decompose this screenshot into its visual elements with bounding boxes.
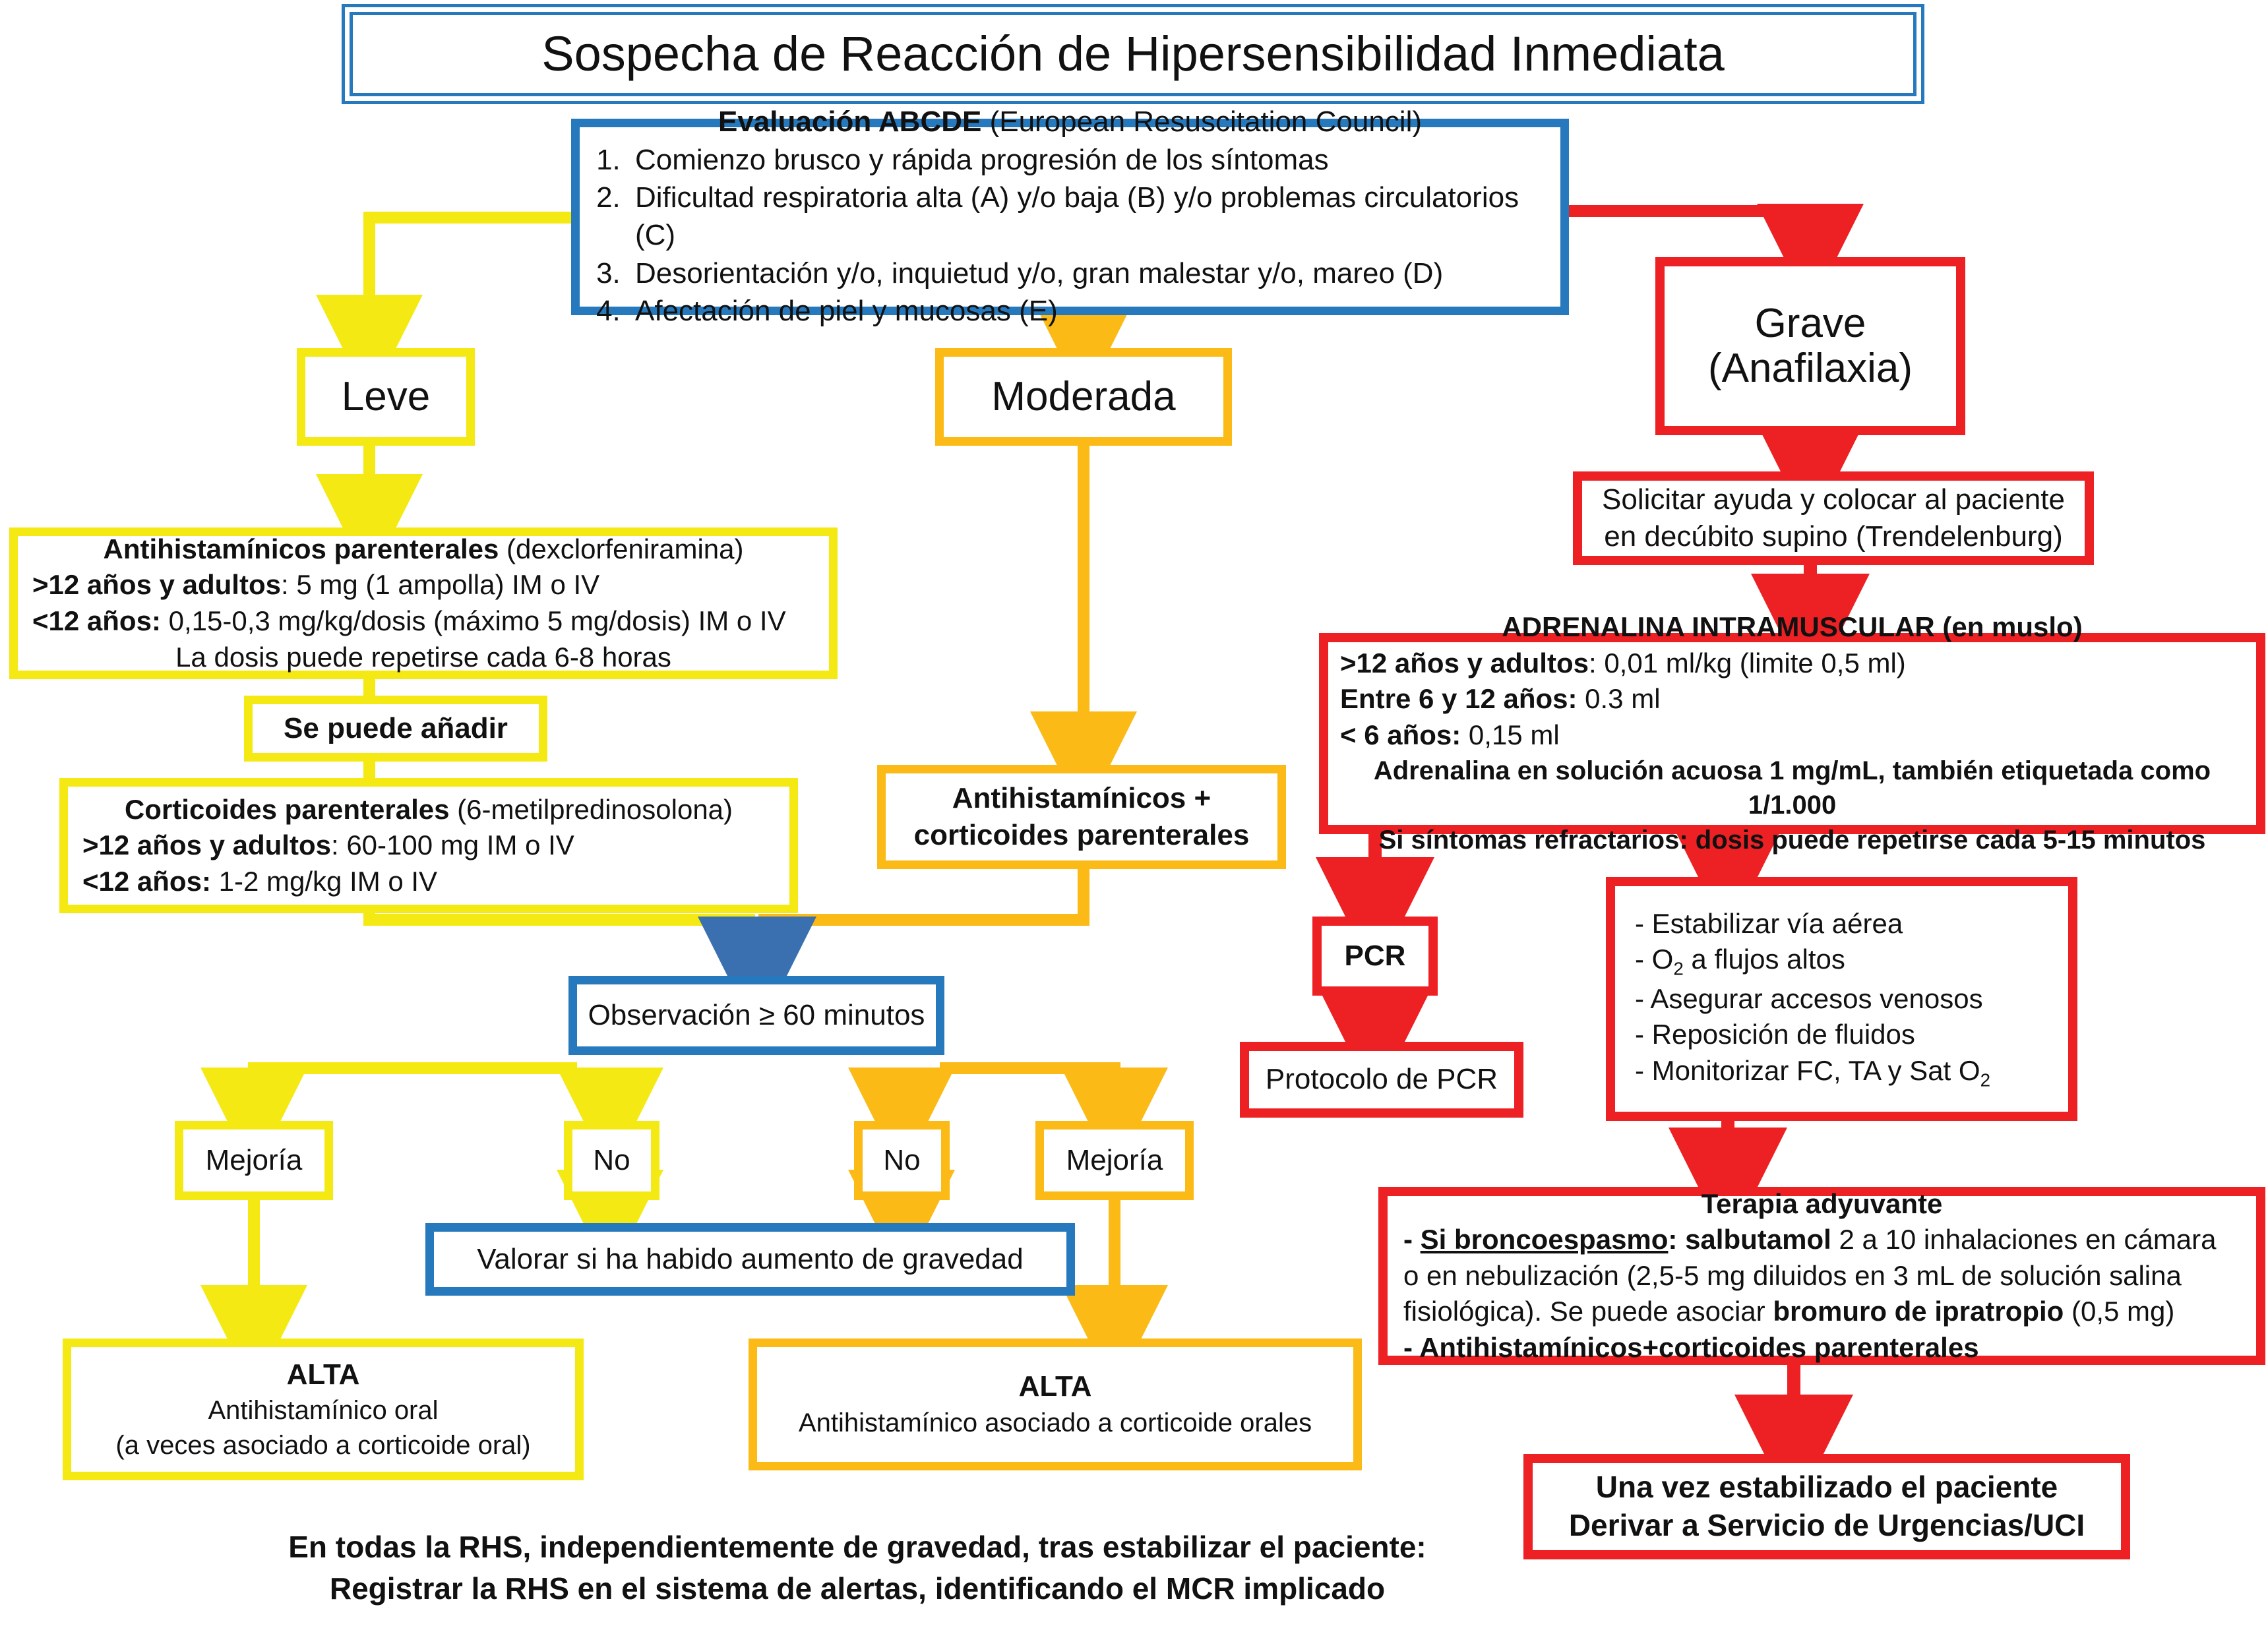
severity-grave-line1: Grave	[1665, 301, 1956, 346]
antihistamines-line4: La dosis puede repetirse cada 6-8 horas	[32, 640, 814, 676]
antihistamines-l2-rest: : 5 mg (1 ampolla) IM o IV	[281, 569, 599, 600]
observation-label: Observación ≥ 60 minutos	[577, 997, 936, 1034]
page-title: Sospecha de Reacción de Hipersensibilida…	[541, 28, 1725, 80]
stabilize-measures-box: - Estabilizar vía aérea - O2 a flujos al…	[1606, 877, 2077, 1121]
antihistamines-l3-bold: <12 años:	[32, 605, 161, 636]
se-puede-anadir-label: Se puede añadir	[253, 710, 539, 747]
abcde-criteria-list: Comienzo brusco y rápida progresión de l…	[580, 141, 1560, 330]
antihistamines-l3-rest: 0,15-0,3 mg/kg/dosis (máximo 5 mg/dosis)…	[161, 605, 786, 636]
outcome-mejoria-right-box[interactable]: Mejoría	[1035, 1121, 1194, 1200]
outcome-mejoria-right-label: Mejoría	[1044, 1142, 1185, 1179]
stabilize-item-2: - O2 a flujos altos	[1635, 942, 2048, 980]
adrenaline-box: ADRENALINA INTRAMUSCULAR (en muslo) >12 …	[1319, 633, 2265, 834]
stabilize-item-4: - Reposición de fluidos	[1635, 1017, 2048, 1053]
abcde-heading-rest: (European Resuscitation Council)	[990, 105, 1422, 138]
stabilize-item-1: - Estabilizar vía aérea	[1635, 906, 2048, 942]
footer-line2: Registrar la RHS en el sistema de alerta…	[218, 1568, 1497, 1610]
severity-leve-box[interactable]: Leve	[297, 348, 475, 446]
adjuvant-broncoespasmo-underline: Si broncoespasmo	[1421, 1224, 1669, 1255]
abcde-item-4: Afectación de piel y mucosas (E)	[628, 292, 1560, 330]
antihistamines-l2-bold: >12 años y adultos	[32, 569, 281, 600]
leve-antihistamines-box: Antihistamínicos parenterales (dexclorfe…	[9, 527, 838, 679]
moderada-treatment-line1: Antihistamínicos +	[886, 780, 1277, 817]
adjuvant-bullet-3: fisiológica). Se puede asociar bromuro d…	[1403, 1294, 2240, 1330]
abcde-item-1: Comienzo brusco y rápida progresión de l…	[628, 141, 1560, 179]
leve-corticoids-box: Corticoides parenterales (6-metilpredino…	[59, 778, 798, 913]
adjuvant-title: Terapia adyuvante	[1403, 1186, 2240, 1222]
outcome-mejoria-left-box[interactable]: Mejoría	[175, 1121, 333, 1200]
outcome-no-left-box[interactable]: No	[564, 1121, 659, 1200]
adjuvant-bullet-2: o en nebulización (2,5-5 mg diluidos en …	[1403, 1258, 2240, 1294]
referral-box: Una vez estabilizado el paciente Derivar…	[1523, 1454, 2130, 1559]
abcde-evaluation-box: Evaluación ABCDE (European Resuscitation…	[571, 119, 1569, 315]
severity-leve-label: Leve	[305, 375, 466, 419]
se-puede-anadir-box: Se puede añadir	[244, 696, 547, 762]
discharge-left-title: ALTA	[71, 1356, 575, 1393]
request-help-box: Solicitar ayuda y colocar al paciente en…	[1573, 471, 2094, 565]
pcr-label: PCR	[1322, 938, 1428, 975]
discharge-right-title: ALTA	[757, 1368, 1353, 1405]
request-help-line2: en decúbito supino (Trendelenburg)	[1582, 518, 2085, 555]
corticoids-line3: <12 años: 1-2 mg/kg IM o IV	[82, 864, 775, 900]
adrenaline-title: ADRENALINA INTRAMUSCULAR (en muslo)	[1340, 609, 2244, 646]
flowchart-canvas: Sospecha de Reacción de Hipersensibilida…	[0, 0, 2268, 1626]
outcome-no-right-label: No	[863, 1142, 941, 1179]
adjuvant-therapy-box: Terapia adyuvante - Si broncoespasmo: sa…	[1378, 1187, 2265, 1365]
corticoids-line1: Corticoides parenterales (6-metilpredino…	[82, 792, 775, 828]
wire-abcde-to-grave	[1566, 211, 1810, 257]
antihistamines-l1-bold: Antihistamínicos parenterales	[104, 533, 507, 564]
severity-grave-line2: (Anafilaxia)	[1665, 346, 1956, 391]
discharge-left-line1: Antihistamínico oral	[71, 1393, 575, 1428]
corticoids-l1-bold: Corticoides parenterales	[125, 794, 457, 825]
discharge-left-line2: (a veces asociado a corticoide oral)	[71, 1428, 575, 1463]
corticoids-line2: >12 años y adultos: 60-100 mg IM o IV	[82, 828, 775, 864]
stabilize-item-5: - Monitorizar FC, TA y Sat O2	[1635, 1053, 2048, 1092]
severity-moderada-label: Moderada	[944, 375, 1223, 419]
adrenaline-line2: Entre 6 y 12 años: 0.3 ml	[1340, 681, 2244, 717]
abcde-item-2: Dificultad respiratoria alta (A) y/o baj…	[628, 179, 1560, 254]
corticoids-l3-bold: <12 años:	[82, 866, 211, 897]
severity-grave-box[interactable]: Grave (Anafilaxia)	[1655, 257, 1965, 435]
wire-observation-to-mejoria-left	[254, 1068, 577, 1121]
adjuvant-bullet-1: - Si broncoespasmo: salbutamol 2 a 10 in…	[1403, 1222, 2240, 1258]
adrenaline-line3: < 6 años: 0,15 ml	[1340, 717, 2244, 754]
abcde-heading: Evaluación ABCDE (European Resuscitation…	[580, 105, 1560, 138]
adrenaline-line1: >12 años y adultos: 0,01 ml/kg (limite 0…	[1340, 646, 2244, 682]
wire-treatment-to-observation	[758, 869, 1084, 920]
title-banner: Sospecha de Reacción de Hipersensibilida…	[350, 12, 1916, 96]
wire-abcde-to-leve	[369, 218, 574, 348]
antihistamines-line1: Antihistamínicos parenterales (dexclorfe…	[32, 531, 814, 568]
referral-line1: Una vez estabilizado el paciente	[1533, 1468, 2121, 1507]
stabilize-item-3: - Asegurar accesos venosos	[1635, 981, 2048, 1017]
request-help-line1: Solicitar ayuda y colocar al paciente	[1582, 481, 2085, 518]
adrenaline-line5: Si síntomas refractarios: dosis puede re…	[1340, 823, 2244, 858]
severity-moderada-box[interactable]: Moderada	[935, 348, 1232, 446]
adrenaline-line4: Adrenalina en solución acuosa 1 mg/mL, t…	[1340, 754, 2244, 824]
corticoids-l2-rest: : 60-100 mg IM o IV	[331, 829, 574, 860]
pcr-box[interactable]: PCR	[1312, 917, 1438, 996]
discharge-right-line1: Antihistamínico asociado a corticoide or…	[757, 1406, 1353, 1441]
escalate-severity-box: Valorar si ha habido aumento de gravedad	[425, 1223, 1075, 1296]
moderada-treatment-line2: corticoides parenterales	[886, 817, 1277, 854]
outcome-mejoria-left-label: Mejoría	[183, 1142, 324, 1179]
observation-box: Observación ≥ 60 minutos	[568, 976, 944, 1055]
pcr-protocol-box: Protocolo de PCR	[1240, 1042, 1523, 1118]
pcr-protocol-label: Protocolo de PCR	[1249, 1061, 1514, 1098]
discharge-left-box: ALTA Antihistamínico oral (a veces asoci…	[63, 1339, 584, 1480]
abcde-item-3: Desorientación y/o, inquietud y/o, gran …	[628, 255, 1560, 292]
antihistamines-l1-rest: (dexclorfeniramina)	[506, 533, 743, 564]
abcde-heading-bold: Evaluación ABCDE	[718, 105, 990, 138]
referral-line2: Derivar a Servicio de Urgencias/UCI	[1533, 1507, 2121, 1545]
corticoids-l3-rest: 1-2 mg/kg IM o IV	[211, 866, 437, 897]
outcome-no-right-box[interactable]: No	[854, 1121, 950, 1200]
footer-line1: En todas la RHS, independientemente de g…	[218, 1526, 1497, 1568]
wire-observation-to-mejoria-right	[940, 1068, 1115, 1121]
discharge-right-box: ALTA Antihistamínico asociado a corticoi…	[749, 1339, 1362, 1470]
footer-note: En todas la RHS, independientemente de g…	[218, 1526, 1497, 1610]
adjuvant-bullet-4: - Antihistamínicos+corticoides parentera…	[1403, 1330, 2240, 1366]
antihistamines-line2: >12 años y adultos: 5 mg (1 ampolla) IM …	[32, 567, 814, 603]
moderada-treatment-box: Antihistamínicos + corticoides parentera…	[877, 765, 1286, 869]
outcome-no-left-label: No	[572, 1142, 651, 1179]
corticoids-l2-bold: >12 años y adultos	[82, 829, 331, 860]
antihistamines-line3: <12 años: 0,15-0,3 mg/kg/dosis (máximo 5…	[32, 603, 814, 640]
escalate-label: Valorar si ha habido aumento de gravedad	[434, 1241, 1066, 1278]
corticoids-l1-rest: (6-metilpredinosolona)	[457, 794, 733, 825]
